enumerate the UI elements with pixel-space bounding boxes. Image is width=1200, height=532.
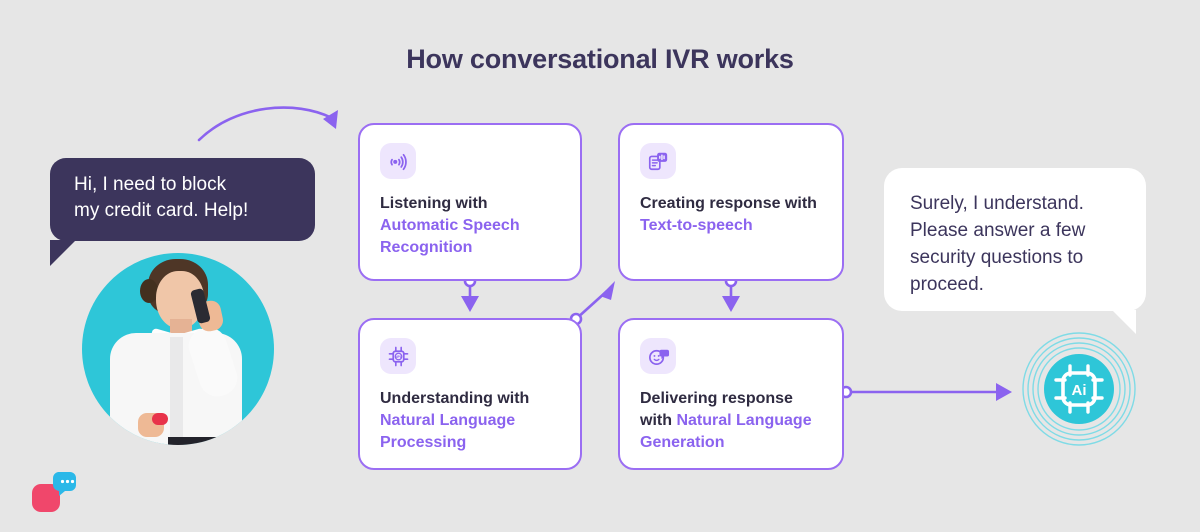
bot-bubble-text: Surely, I understand. Please answer a fe…: [910, 190, 1120, 298]
bot-speech-bubble: Surely, I understand. Please answer a fe…: [884, 168, 1146, 311]
customer-photo: [82, 253, 274, 445]
ai-badge-label: Ai: [1072, 382, 1087, 399]
chip-icon-label: NPL: [395, 355, 402, 359]
step-card-tts-text: Creating response with Text-to-speech: [640, 193, 822, 237]
step-card-tts-lead: Creating response with: [640, 195, 817, 212]
page-title: How conversational IVR works: [0, 44, 1200, 75]
ai-badge: Ai: [1022, 332, 1136, 446]
step-card-asr-text: Listening with Automatic Speech Recognit…: [380, 193, 560, 259]
step-card-asr-highlight: Automatic Speech Recognition: [380, 217, 520, 256]
step-card-tts-highlight: Text-to-speech: [640, 217, 753, 234]
bot-bubble-tail: [1112, 310, 1136, 334]
step-card-asr[interactable]: Listening with Automatic Speech Recognit…: [358, 123, 582, 281]
step-card-nlg[interactable]: Delivering response with Natural Languag…: [618, 318, 844, 470]
chat-logo: [30, 470, 78, 514]
step-card-tts[interactable]: Creating response with Text-to-speech: [618, 123, 844, 281]
smiley-chat-icon: [640, 338, 676, 374]
sound-wave-icon: [380, 143, 416, 179]
customer-speech-bubble: Hi, I need to block my credit card. Help…: [50, 158, 315, 241]
step-card-nlg-text: Delivering response with Natural Languag…: [640, 388, 822, 454]
step-card-nlp[interactable]: NPL Understanding with Natural Language …: [358, 318, 582, 470]
infographic-canvas: How conversational IVR works Hi, I need …: [0, 0, 1200, 532]
step-card-nlp-text: Understanding with Natural Language Proc…: [380, 388, 560, 454]
curved-arrow-icon: [196, 96, 351, 146]
document-waveform-icon: [640, 143, 676, 179]
customer-bubble-text: Hi, I need to block my credit card. Help…: [74, 172, 295, 224]
step-card-nlp-highlight: Natural Language Processing: [380, 412, 515, 451]
step-card-asr-lead: Listening with: [380, 195, 488, 212]
step-card-nlp-lead: Understanding with: [380, 390, 529, 407]
customer-bubble-tail: [50, 240, 76, 266]
chip-nlp-icon: NPL: [380, 338, 416, 374]
